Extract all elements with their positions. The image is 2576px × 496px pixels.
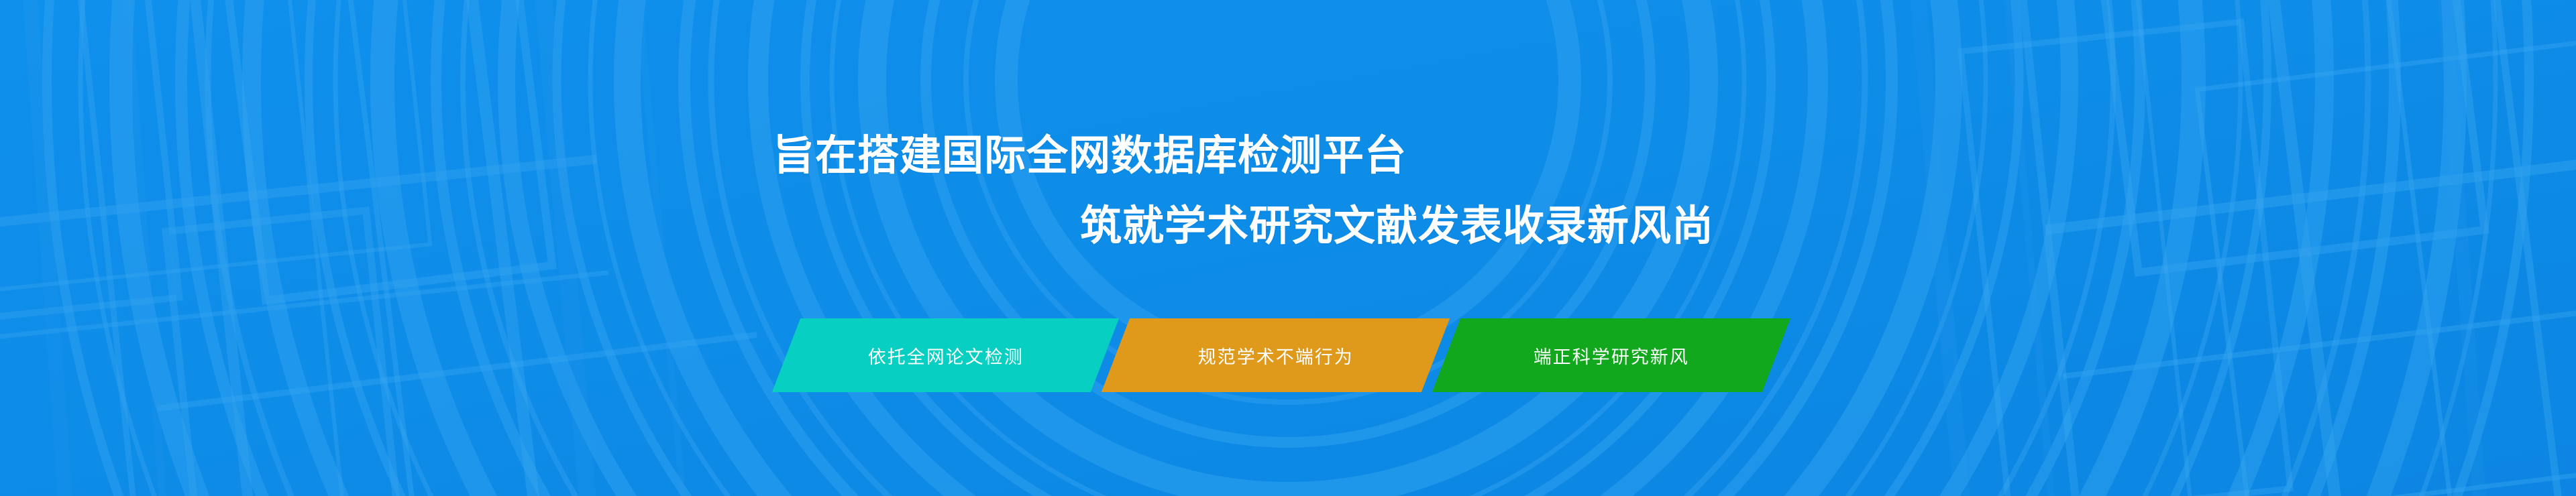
feature-tab-misconduct-label: 规范学术不端行为 xyxy=(1198,343,1354,369)
feature-tab-strip: 依托全网论文检测 规范学术不端行为 端正科学研究新风 xyxy=(771,318,1805,392)
feature-tab-ethos[interactable]: 端正科学研究新风 xyxy=(1432,318,1790,392)
feature-tab-ethos-label: 端正科学研究新风 xyxy=(1534,343,1689,369)
feature-tab-detection-label: 依托全网论文检测 xyxy=(868,343,1024,369)
headline-line-1: 旨在搭建国际全网数据库检测平台 xyxy=(773,135,1407,177)
promo-banner: 旨在搭建国际全网数据库检测平台 筑就学术研究文献发表收录新风尚 依托全网论文检测… xyxy=(0,0,2576,496)
feature-tab-detection[interactable]: 依托全网论文检测 xyxy=(772,318,1119,392)
headline-line-2: 筑就学术研究文献发表收录新风尚 xyxy=(1080,206,1714,247)
feature-tab-misconduct[interactable]: 规范学术不端行为 xyxy=(1102,318,1450,392)
headline-block: 旨在搭建国际全网数据库检测平台 筑就学术研究文献发表收录新风尚 xyxy=(0,0,2576,496)
